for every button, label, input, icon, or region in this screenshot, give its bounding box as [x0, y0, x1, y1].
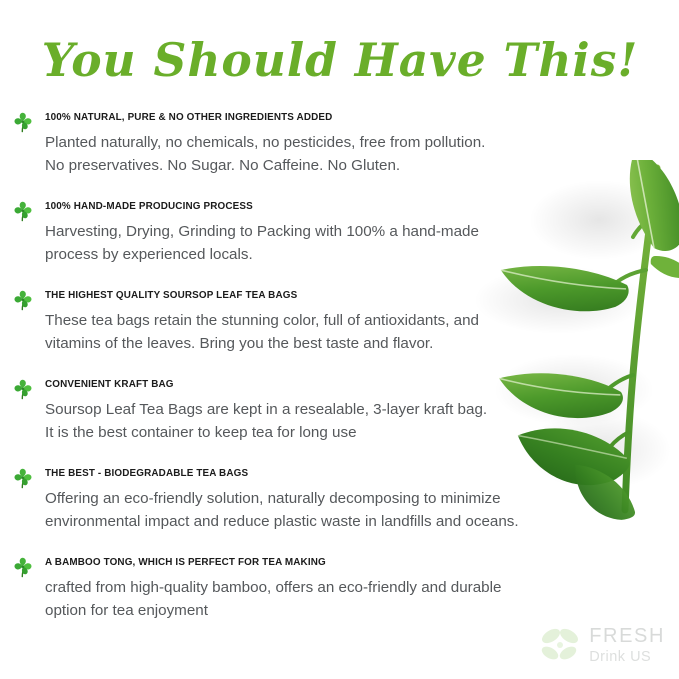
page-title: You Should Have This! — [0, 18, 679, 100]
feature-line: environmental impact and reduce plastic … — [45, 510, 630, 533]
feature-line: It is the best container to keep tea for… — [45, 421, 630, 444]
four-leaf-clover-icon — [11, 199, 35, 223]
brand-wordmark: FRESH Drink US — [589, 626, 665, 665]
feature-title: THE HIGHEST QUALITY SOURSOP LEAF TEA BAG… — [45, 286, 679, 306]
list-item: THE BEST - BIODEGRADABLE TEA BAGS Offeri… — [0, 464, 679, 533]
feature-line: process by experienced locals. — [45, 243, 630, 266]
feature-line: Harvesting, Drying, Grinding to Packing … — [45, 220, 630, 243]
feature-line: Offering an eco-friendly solution, natur… — [45, 487, 630, 510]
headline-script: You Should Have This! — [20, 18, 660, 100]
feature-line: vitamins of the leaves. Bring you the be… — [45, 332, 630, 355]
four-leaf-clover-icon — [11, 377, 35, 401]
feature-description: These tea bags retain the stunning color… — [45, 309, 630, 355]
feature-line: No preservatives. No Sugar. No Caffeine.… — [45, 154, 630, 177]
feature-line: Soursop Leaf Tea Bags are kept in a rese… — [45, 398, 630, 421]
four-leaf-clover-icon — [11, 555, 35, 579]
brand-secondary-text: Drink US — [589, 650, 665, 665]
feature-title: A BAMBOO TONG, WHICH IS PERFECT FOR TEA … — [45, 553, 679, 573]
list-item: THE HIGHEST QUALITY SOURSOP LEAF TEA BAG… — [0, 286, 679, 355]
feature-title: CONVENIENT KRAFT BAG — [45, 375, 679, 395]
feature-line: Planted naturally, no chemicals, no pest… — [45, 131, 630, 154]
four-leaf-clover-icon — [11, 466, 35, 490]
feature-title: 100% HAND-MADE PRODUCING PROCESS — [45, 197, 679, 217]
four-leaf-clover-icon — [11, 110, 35, 134]
feature-description: Offering an eco-friendly solution, natur… — [45, 487, 630, 533]
feature-description: Soursop Leaf Tea Bags are kept in a rese… — [45, 398, 630, 444]
leaf-logo-icon — [537, 625, 583, 665]
feature-list: 100% NATURAL, PURE & NO OTHER INGREDIENT… — [0, 108, 679, 622]
feature-description: Planted naturally, no chemicals, no pest… — [45, 131, 630, 177]
list-item: A BAMBOO TONG, WHICH IS PERFECT FOR TEA … — [0, 553, 679, 622]
brand-logo: FRESH Drink US — [537, 625, 665, 665]
feature-line: option for tea enjoyment — [45, 599, 630, 622]
brand-primary-text: FRESH — [589, 626, 665, 646]
four-leaf-clover-icon — [11, 288, 35, 312]
feature-line: These tea bags retain the stunning color… — [45, 309, 630, 332]
feature-title: 100% NATURAL, PURE & NO OTHER INGREDIENT… — [45, 108, 679, 128]
feature-line: crafted from high-quality bamboo, offers… — [45, 576, 630, 599]
list-item: CONVENIENT KRAFT BAG Soursop Leaf Tea Ba… — [0, 375, 679, 444]
headline-label: You Should Have This! — [41, 33, 638, 87]
feature-description: crafted from high-quality bamboo, offers… — [45, 576, 630, 622]
feature-title: THE BEST - BIODEGRADABLE TEA BAGS — [45, 464, 679, 484]
list-item: 100% NATURAL, PURE & NO OTHER INGREDIENT… — [0, 108, 679, 177]
feature-description: Harvesting, Drying, Grinding to Packing … — [45, 220, 630, 266]
list-item: 100% HAND-MADE PRODUCING PROCESS Harvest… — [0, 197, 679, 266]
promo-infographic: You Should Have This! 100% NATURAL, PURE… — [0, 0, 679, 679]
